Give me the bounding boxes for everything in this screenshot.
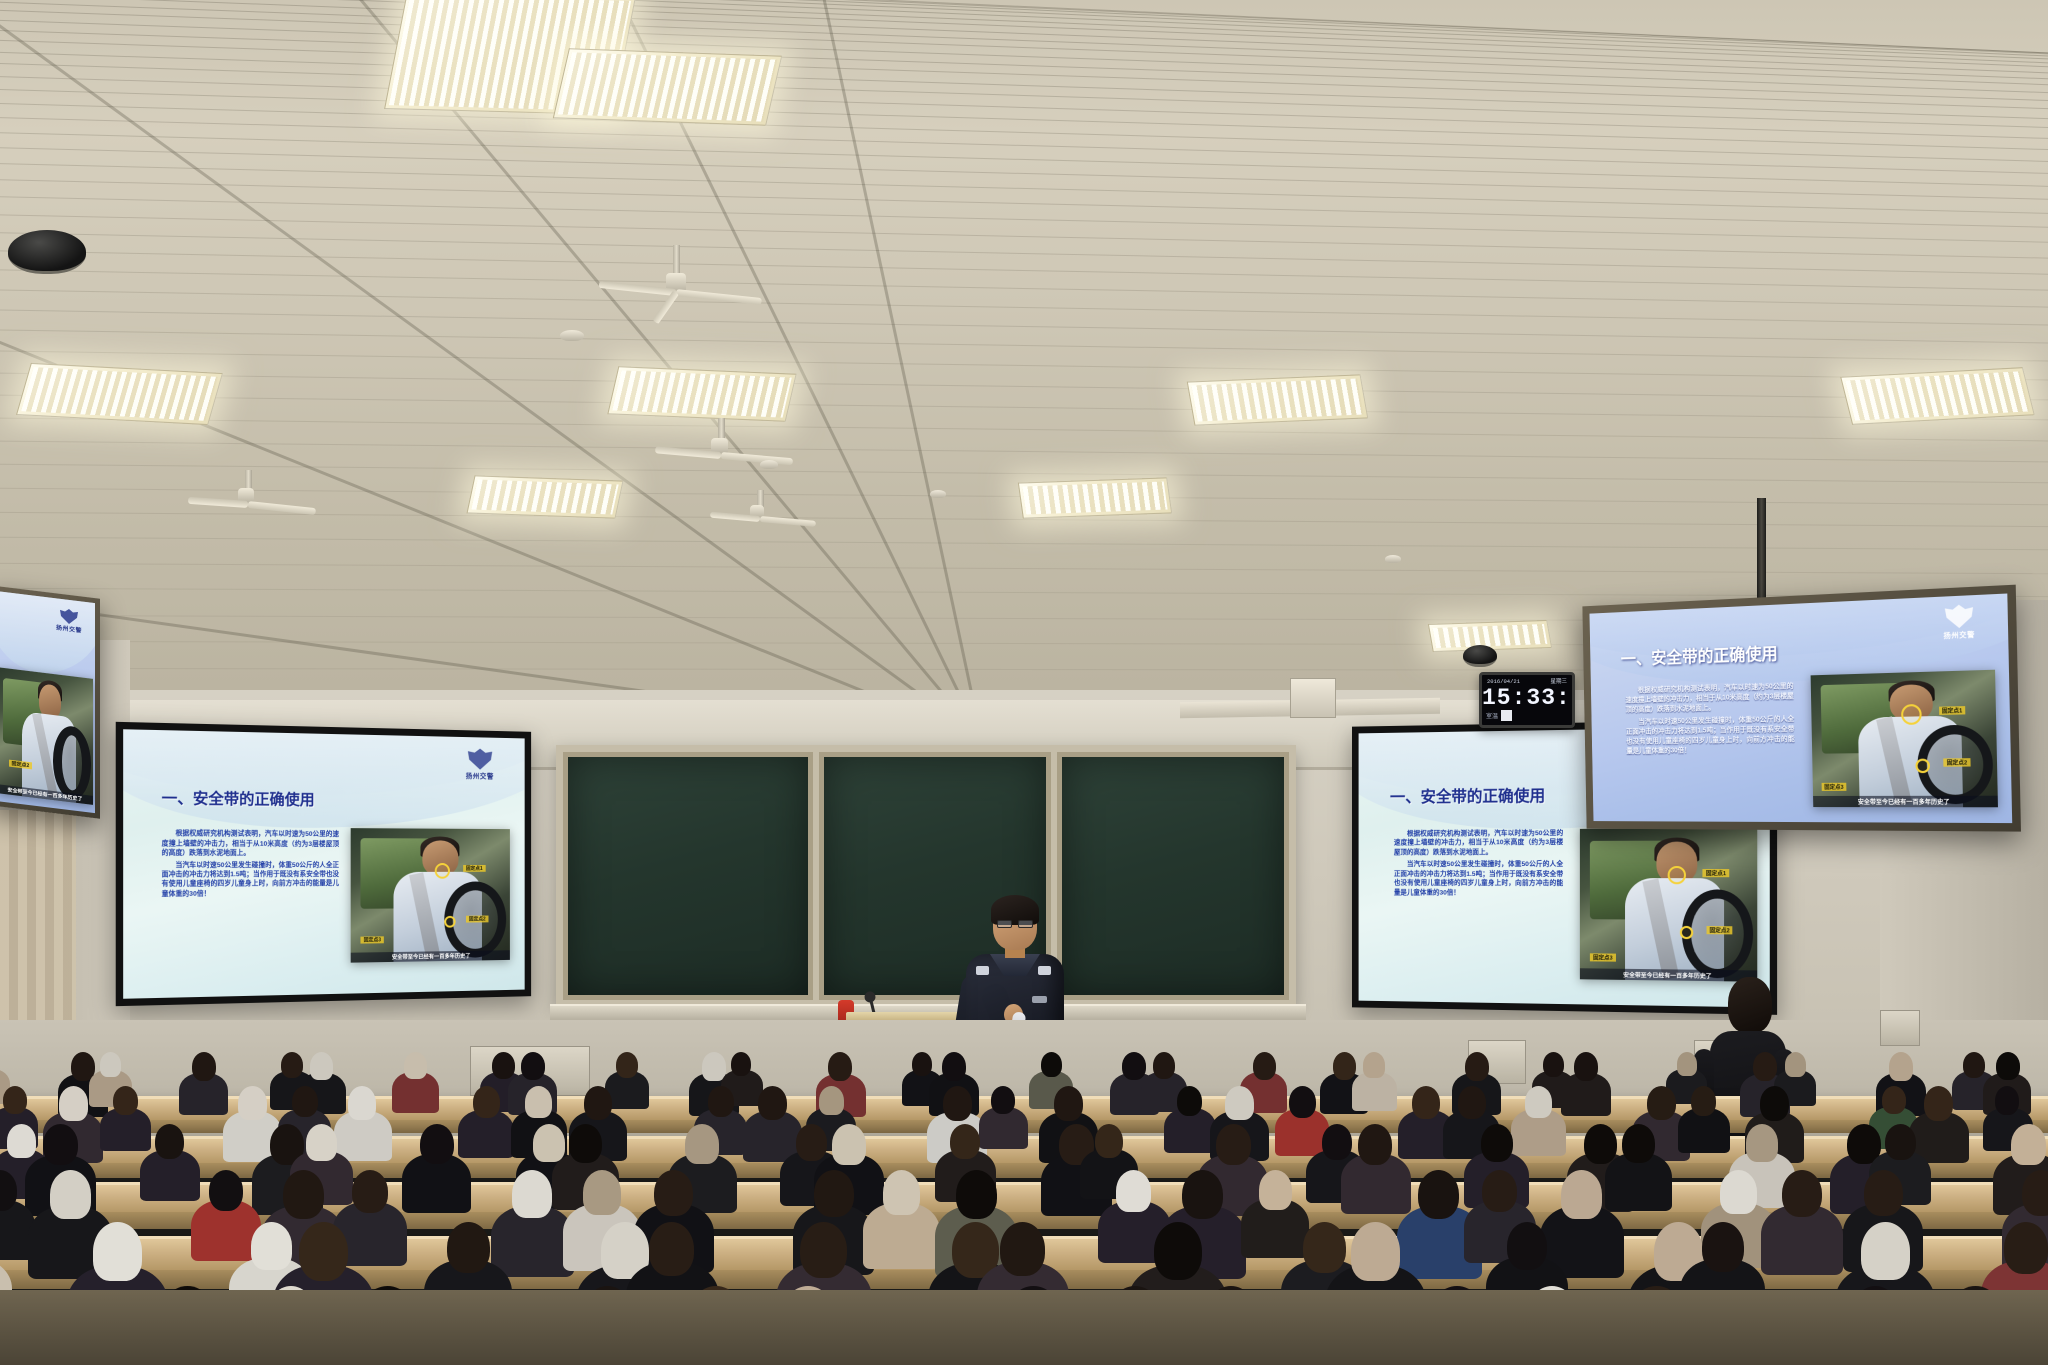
ceiling-light <box>1187 374 1368 425</box>
slide-body: 根据权威研究机构测试表明，汽车以时速为50公里的速度撞上墙壁的冲击力，相当于从1… <box>162 829 339 901</box>
audience-member-head <box>310 1052 333 1080</box>
left-edge-tv-frame: 扬州交警 固定点2 安全带至今已经有一百多年历史了 <box>0 585 100 819</box>
marker-label: 固定点3 <box>1590 954 1616 962</box>
audience-member-head <box>2011 1124 2046 1165</box>
audience-member-head <box>800 1222 847 1278</box>
presenter-shoulder-badge <box>976 966 989 975</box>
audience-member-head <box>1333 1052 1356 1080</box>
audience-member-head <box>991 1086 1015 1114</box>
ceiling-light <box>467 475 624 518</box>
marker-circle <box>435 863 450 879</box>
security-camera-icon <box>8 230 86 274</box>
audience-member-head <box>43 1124 78 1165</box>
audience-member-head <box>1861 1222 1910 1280</box>
side-cabinet <box>1880 1010 1920 1046</box>
audience-member-head <box>943 1086 972 1121</box>
audience-member-head <box>420 1124 454 1164</box>
marker-label: 固定点3 <box>1821 783 1846 791</box>
audience-member-head <box>1864 1170 1903 1216</box>
audience-member-head <box>7 1124 36 1158</box>
audience-member-head <box>832 1124 866 1165</box>
audience-member-head <box>1647 1086 1676 1120</box>
audience-member-head <box>1760 1086 1789 1121</box>
right-tv-frame: 扬州交警 一、安全带的正确使用 根据权威研究机构测试表明，汽车以时速为50公里的… <box>1582 585 2021 832</box>
presenter-glasses-icon <box>997 920 1033 928</box>
audience-member-head <box>1584 1124 1617 1164</box>
ceiling-tile-line <box>0 535 2048 552</box>
marker-label: 固定点1 <box>463 865 485 872</box>
blackboard <box>556 745 1296 1007</box>
clock-temp-label: 室温 <box>1486 711 1498 720</box>
smoke-detector-icon <box>1385 555 1401 563</box>
audience-member-head <box>654 1170 693 1216</box>
security-camera-icon <box>1463 645 1497 667</box>
marker-label: 固定点3 <box>361 936 384 943</box>
slide-logo-text: 扬州交警 <box>453 773 505 781</box>
audience-member-head <box>1253 1052 1276 1080</box>
ceiling-tile-line <box>0 305 2048 347</box>
ceiling-tile-line <box>0 587 2048 598</box>
lecture-hall-photo: 扬州交警 固定点2 安全带至今已经有一百多年历史了 扬州交警 <box>0 0 2048 1365</box>
slide-logo: 扬州交警 <box>49 606 89 636</box>
audience-member-head <box>1259 1170 1292 1210</box>
clock-date: 2016/04/21 <box>1487 678 1520 685</box>
ceiling-light <box>16 363 223 425</box>
police-crest-icon <box>453 747 505 773</box>
audience-member-head <box>1677 1052 1697 1076</box>
audience-member-head <box>1154 1222 1202 1280</box>
audience-member-head <box>1720 1170 1757 1214</box>
clock-temp-value <box>1501 710 1512 721</box>
audience-member-head <box>1996 1052 2020 1080</box>
slide-photo: 固定点2 安全带至今已经有一百多年历史了 <box>0 667 93 805</box>
tv-mount-pole <box>1757 498 1766 598</box>
audience-member-head <box>1561 1170 1602 1219</box>
audience-member-head <box>1418 1170 1459 1219</box>
ceiling-tile-line <box>0 141 2048 206</box>
audience-member-head <box>1691 1086 1716 1116</box>
slide-title: 一、安全带的正确使用 <box>162 786 315 809</box>
marker-label: 固定点1 <box>1939 706 1966 715</box>
audience-member-head <box>93 1222 142 1281</box>
audience-member-head <box>1995 1086 2019 1115</box>
slide-photo: 固定点1 固定点2 固定点3 安全带至今已经有一百多年历史了 <box>1810 670 1998 807</box>
audience-member-head <box>584 1086 612 1120</box>
slide-photo: 固定点1 固定点2 固定点3 安全带至今已经有一百多年历史了 <box>1580 828 1757 982</box>
audience-member-head <box>1322 1124 1352 1160</box>
audience-member-head <box>281 1052 303 1078</box>
standing-attendee-hair <box>1728 977 1772 1033</box>
audience-member-head <box>50 1170 91 1219</box>
audience-member-head <box>238 1086 267 1120</box>
audience-member-head <box>512 1170 552 1218</box>
slide-paragraph: 当汽车以时速50公里发生碰撞时，体重50公斤的人全正面冲击的冲击力将达到1.5吨… <box>1626 715 1795 757</box>
audience-member-head <box>192 1052 216 1081</box>
blackboard-panel <box>563 752 813 1000</box>
smoke-detector-icon <box>560 330 584 341</box>
audience-member-head <box>1216 1124 1251 1165</box>
smoke-detector-icon <box>760 460 778 469</box>
marker-circle <box>1680 926 1693 939</box>
marker-label: 固定点2 <box>1706 926 1732 934</box>
audience-member-head <box>1885 1124 1916 1160</box>
audience-member-head <box>1054 1086 1083 1121</box>
left-projection-frame: 扬州交警 一、安全带的正确使用 根据权威研究机构测试表明，汽车以时速为50公里的… <box>116 722 531 1006</box>
audience-member-head <box>1289 1086 1316 1118</box>
audience-member-head <box>819 1086 844 1115</box>
slide-logo: 扬州交警 <box>1928 601 1989 640</box>
photo-caption: 安全带至今已经有一百多年历史了 <box>1580 969 1757 982</box>
audience-member-head <box>1095 1124 1123 1158</box>
slide-paragraph: 根据权威研究机构测试表明，汽车以时速为50公里的速度撞上墙壁的冲击力，相当于从1… <box>162 829 339 858</box>
slide-paragraph: 当汽车以时速50公里发生碰撞时，体重50公斤的人全正面冲击的冲击力将达到1.5吨… <box>162 860 339 899</box>
audience-member-head <box>1482 1170 1517 1212</box>
audience-member-head <box>1746 1124 1778 1162</box>
slide-title: 一、安全带的正确使用 <box>1621 639 1778 669</box>
ceiling-tile-line <box>0 392 2048 424</box>
audience-member-head <box>1182 1170 1223 1219</box>
audience-member-head <box>3 1086 27 1114</box>
audience-member-head <box>1753 1052 1777 1081</box>
audience-member-head <box>283 1170 324 1219</box>
audience-member-head <box>521 1052 545 1080</box>
audience-member-head <box>1363 1052 1385 1078</box>
audience-member-head <box>1924 1086 1953 1121</box>
audience-member-head <box>616 1052 638 1078</box>
ceiling-tile-line <box>0 285 2048 329</box>
audience-member-head <box>447 1222 490 1273</box>
clock-temp-row: 室温 <box>1482 710 1572 723</box>
slide-body: 根据权威研究机构测试表明，汽车以时速为50公里的速度撞上墙壁的冲击力，相当于从1… <box>1394 829 1563 901</box>
ceiling-tile-line <box>0 326 2048 366</box>
ceiling-tile-line <box>0 265 2048 312</box>
ceiling-tile-line <box>0 11 2048 102</box>
slide-title: 一、安全带的正确使用 <box>1390 782 1545 807</box>
audience-member-head <box>1702 1222 1744 1272</box>
audience-member-head <box>525 1086 552 1118</box>
audience-member-head <box>956 1170 997 1219</box>
marker-circle <box>1915 758 1930 773</box>
photo-caption: 安全带至今已经有一百多年历史了 <box>1813 795 1998 807</box>
left-edge-tv-screen: 扬州交警 固定点2 安全带至今已经有一百多年历史了 <box>0 591 95 813</box>
audience-member-head <box>1574 1052 1598 1081</box>
slide-body: 根据权威研究机构测试表明，汽车以时速为50公里的速度撞上墙壁的冲击力，相当于从1… <box>1625 682 1795 758</box>
audience-member-head <box>209 1170 243 1211</box>
audience-member-head <box>100 1052 121 1077</box>
audience-member-head <box>533 1124 565 1162</box>
ceiling-tile-line <box>0 438 2048 465</box>
audience-member-head <box>1041 1052 1062 1077</box>
audience-member-head <box>473 1086 500 1118</box>
audience-member-head <box>883 1170 920 1215</box>
audience-member-head <box>1153 1052 1175 1079</box>
audience-member-head <box>950 1124 980 1159</box>
slide-paragraph: 当汽车以时速50公里发生碰撞时，体重50公斤的人全正面冲击的冲击力将达到1.5吨… <box>1394 860 1563 899</box>
ceiling-light <box>1018 477 1172 518</box>
ceiling-tile-line <box>0 347 2048 384</box>
audience-member-head <box>942 1052 966 1081</box>
audience-member-head <box>348 1086 376 1120</box>
left-projection-screen: 扬州交警 一、安全带的正确使用 根据权威研究机构测试表明，汽车以时速为50公里的… <box>123 729 525 999</box>
audience-member-head <box>758 1086 787 1120</box>
ceiling-tile-line <box>0 561 2048 575</box>
ceiling-tile-line <box>0 157 2048 220</box>
ceiling-tile-line <box>0 125 2048 192</box>
audience-member-head <box>352 1170 388 1213</box>
audience-member-head <box>59 1086 88 1121</box>
audience-member-head <box>1412 1086 1440 1119</box>
ceiling-tile-line <box>0 414 2048 443</box>
photo-caption: 安全带至今已经有一百多年历史了 <box>351 950 510 962</box>
ceiling-tile-line <box>0 0 2048 70</box>
audience-member-head <box>1000 1222 1045 1276</box>
audience-member-head <box>828 1052 852 1081</box>
marker-circle <box>1667 866 1685 884</box>
clock-weekday: 星期三 <box>1550 677 1567 685</box>
audience-member-head <box>814 1170 854 1217</box>
audience-member-head <box>404 1052 427 1079</box>
clock-date-row: 2016/04/21 星期三 <box>1482 675 1572 685</box>
slide-paragraph: 根据权威研究机构测试表明，汽车以时速为50公里的速度撞上墙壁的冲击力，相当于从1… <box>1625 682 1794 716</box>
audience-member-head <box>796 1124 827 1161</box>
audience-member-head <box>1351 1222 1400 1281</box>
audience-member-head <box>251 1222 292 1270</box>
clock-time: 15:33:07 <box>1482 685 1572 710</box>
audience-member-head <box>2022 1170 2048 1216</box>
presenter-chest-badge <box>1032 996 1047 1003</box>
audience-member-head <box>1465 1052 1489 1081</box>
smoke-detector-icon <box>930 490 946 498</box>
floor <box>0 1290 2048 1365</box>
marker-label: 固定点2 <box>1943 758 1970 767</box>
ceiling-light <box>1840 367 2035 425</box>
marker-label: 固定点1 <box>1703 869 1729 877</box>
audience-member-head <box>113 1086 138 1115</box>
audience-member-head <box>731 1052 751 1076</box>
slide-paragraph: 根据权威研究机构测试表明，汽车以时速为50公里的速度撞上墙壁的冲击力，相当于从1… <box>1394 829 1563 858</box>
digital-wall-clock: 2016/04/21 星期三 15:33:07 室温 <box>1479 672 1575 728</box>
marker-circle <box>444 916 455 928</box>
audience-member-head <box>1225 1086 1254 1120</box>
police-crest-icon <box>1928 601 1989 632</box>
blackboard-panel <box>1057 752 1289 1000</box>
audience-member-head <box>1116 1170 1151 1212</box>
audience-member-head <box>1177 1086 1202 1116</box>
ceiling-light <box>553 48 782 126</box>
audience-member-head <box>1525 1086 1552 1118</box>
slide-swoosh <box>0 591 95 680</box>
audience-member-head <box>912 1052 932 1076</box>
audience-member-head <box>1507 1222 1547 1270</box>
wall-junction-box <box>1290 678 1336 718</box>
marker-label: 固定点2 <box>466 915 488 922</box>
presenter-shoulder-badge <box>1038 966 1051 975</box>
audience-member-head <box>1303 1222 1346 1273</box>
audience-member-head <box>708 1086 734 1117</box>
audience-member-head <box>1889 1052 1913 1081</box>
slide-logo: 扬州交警 <box>453 747 505 781</box>
audience-member-head <box>155 1124 184 1159</box>
audience-member-head <box>1481 1124 1513 1162</box>
audience-member-head <box>1785 1052 1806 1077</box>
audience-member-head <box>1782 1170 1822 1217</box>
right-tv-screen: 扬州交警 一、安全带的正确使用 根据权威研究机构测试表明，汽车以时速为50公里的… <box>1589 593 2012 823</box>
audience-member-head <box>569 1124 602 1163</box>
audience-member-head <box>1122 1052 1146 1080</box>
audience-member-head <box>2004 1222 2048 1274</box>
audience-member-head <box>583 1170 621 1215</box>
audience-member-head <box>685 1124 719 1164</box>
audience-member-head <box>1458 1086 1486 1119</box>
audience-member-head <box>292 1086 318 1117</box>
audience-member-head <box>1882 1086 1906 1114</box>
audience-member-head <box>306 1124 337 1161</box>
audience-member-head <box>1963 1052 1985 1078</box>
audience-member-head <box>649 1222 694 1276</box>
audience-member-head <box>299 1222 348 1281</box>
audience-member-head <box>1622 1124 1655 1163</box>
ceiling-light <box>607 366 796 422</box>
audience-member-head <box>492 1052 515 1079</box>
audience-member-head <box>1543 1052 1564 1077</box>
slide-photo: 固定点1 固定点2 固定点3 安全带至今已经有一百多年历史了 <box>351 828 510 963</box>
audience-member-head <box>1358 1124 1392 1165</box>
